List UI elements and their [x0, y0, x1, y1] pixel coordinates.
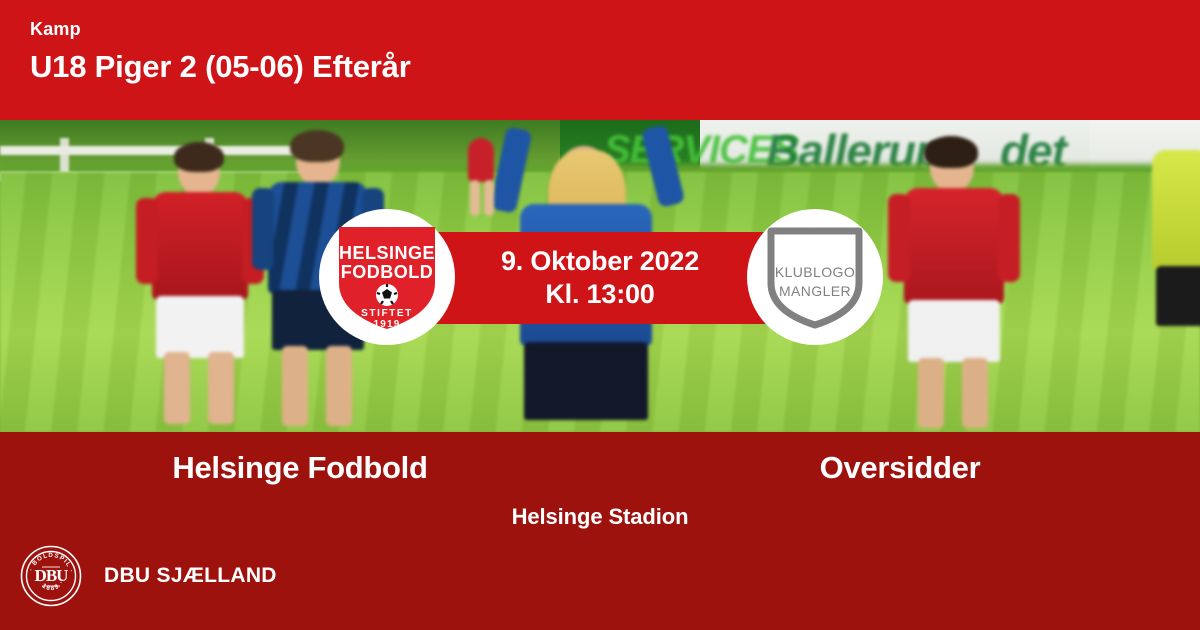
- match-poster: Kamp U18 Piger 2 (05-06) Efterår SERVICE…: [0, 0, 1200, 630]
- svg-text:HELSINGE: HELSINGE: [339, 243, 435, 263]
- match-time: Kl. 13:00: [545, 278, 654, 311]
- svg-text:FODBOLD: FODBOLD: [341, 262, 434, 282]
- home-club-logo: HELSINGE FODBOLD STIFTET 1919 HELSINGE F…: [319, 209, 455, 345]
- poster-header: Kamp U18 Piger 2 (05-06) Efterår: [0, 0, 1200, 120]
- fence-rail-upper: [0, 146, 330, 155]
- home-team-name: Helsinge Fodbold: [0, 448, 600, 488]
- dbu-emblem-icon: DANSK · BOLDSPIL · UNION · 1889 · DBU: [20, 545, 82, 607]
- footer: DANSK · BOLDSPIL · UNION · 1889 · DBU DB…: [20, 545, 277, 607]
- venue-name: Helsinge Stadion: [0, 504, 1200, 530]
- footer-organisation-label: DBU SJÆLLAND: [104, 564, 277, 588]
- svg-text:1919: 1919: [373, 319, 400, 330]
- svg-text:STIFTET: STIFTET: [361, 308, 413, 319]
- match-date: 9. Oktober 2022: [501, 245, 699, 278]
- svg-text:MANGLER: MANGLER: [779, 283, 851, 299]
- shield-placeholder-icon: KLUBLOGO MANGLER: [763, 221, 867, 333]
- page-title: U18 Piger 2 (05-06) Efterår: [30, 47, 1200, 87]
- football-icon: [376, 284, 398, 306]
- away-team-name: Oversidder: [600, 448, 1200, 488]
- svg-text:KLUBLOGO: KLUBLOGO: [775, 264, 855, 280]
- away-club-logo: KLUBLOGO MANGLER KLUBLOGO MANGLER: [747, 209, 883, 345]
- helsinge-crest-icon: HELSINGE FODBOLD STIFTET 1919: [335, 221, 439, 333]
- teams-row: Helsinge Fodbold Oversidder: [0, 448, 1200, 488]
- svg-text:DBU: DBU: [35, 566, 69, 585]
- header-kicker: Kamp: [30, 18, 1200, 40]
